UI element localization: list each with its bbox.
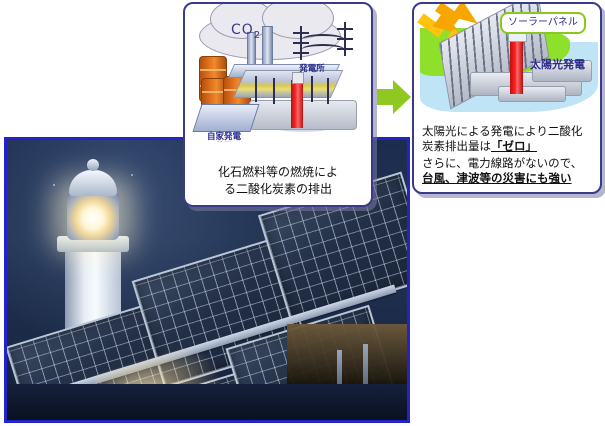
- solar-generation-label: 太陽光発電: [530, 56, 585, 72]
- co2-label-subscript: 2: [254, 30, 261, 41]
- solar-caption-disaster-resistant: さらに、電力線路がないので、 台風、津波等の災害にも強い: [422, 156, 594, 186]
- caption-line-2-plain: 炭素排出量は: [422, 139, 491, 153]
- caption-line-2: る二酸化炭素の排出: [191, 181, 365, 198]
- conventional-power-panel: CO2 発電所 自家発電 装置 化石燃料等の燃焼: [183, 2, 373, 207]
- solar-power-illustration: ソーラーパネル 太陽光発電: [414, 4, 600, 119]
- lighthouse-icon: [510, 38, 523, 94]
- solar-panel-tag: ソーラーパネル: [500, 12, 586, 34]
- solar-caption-zero-emission: 太陽光による発電により二酸化 炭素排出量は「ゼロ」: [422, 124, 594, 154]
- solar-power-panel: ソーラーパネル 太陽光発電 太陽光による発電により二酸化 炭素排出量は「ゼロ」 …: [412, 2, 602, 194]
- caption-line-1: 化石燃料等の燃焼によ: [191, 164, 365, 181]
- caption-emphasis-zero: 「ゼロ」: [491, 139, 537, 153]
- power-plant-label: 発電所: [289, 64, 335, 74]
- lighthouse-icon: [291, 80, 303, 128]
- green-right-arrow: [377, 80, 411, 114]
- roof-deck: [287, 324, 407, 386]
- pier-pylon: [311, 76, 313, 102]
- pier-platform: [498, 86, 566, 102]
- foreground-shadow: [7, 384, 407, 420]
- figure-canvas: CO2 発電所 自家発電 装置 化石燃料等の燃焼: [0, 0, 605, 426]
- caption-line-2: 炭素排出量は「ゼロ」: [422, 139, 594, 154]
- co2-label-text: CO: [231, 22, 254, 38]
- lighthouse-finial: [87, 159, 99, 171]
- pier-pylon: [273, 78, 275, 104]
- self-generator-label-line1: 自家発電: [193, 132, 255, 142]
- conventional-power-illustration: CO2 発電所 自家発電 装置: [185, 4, 371, 142]
- caption-line-1: 太陽光による発電により二酸化: [422, 124, 594, 139]
- star: [53, 184, 55, 186]
- pier-pylon: [255, 76, 257, 102]
- conventional-power-caption: 化石燃料等の燃焼によ る二酸化炭素の排出: [191, 164, 365, 198]
- arrow-head: [393, 80, 411, 114]
- caption-line-1: さらに、電力線路がないので、: [422, 156, 594, 171]
- co2-label: CO2: [231, 22, 261, 41]
- harbor-platform: [249, 100, 357, 130]
- caption-emphasis-disaster: 台風、津波等の災害にも強い: [422, 171, 594, 186]
- self-generator-icon: [192, 104, 259, 132]
- power-line: [301, 44, 345, 56]
- star: [131, 174, 133, 176]
- pier-pylon: [327, 78, 329, 104]
